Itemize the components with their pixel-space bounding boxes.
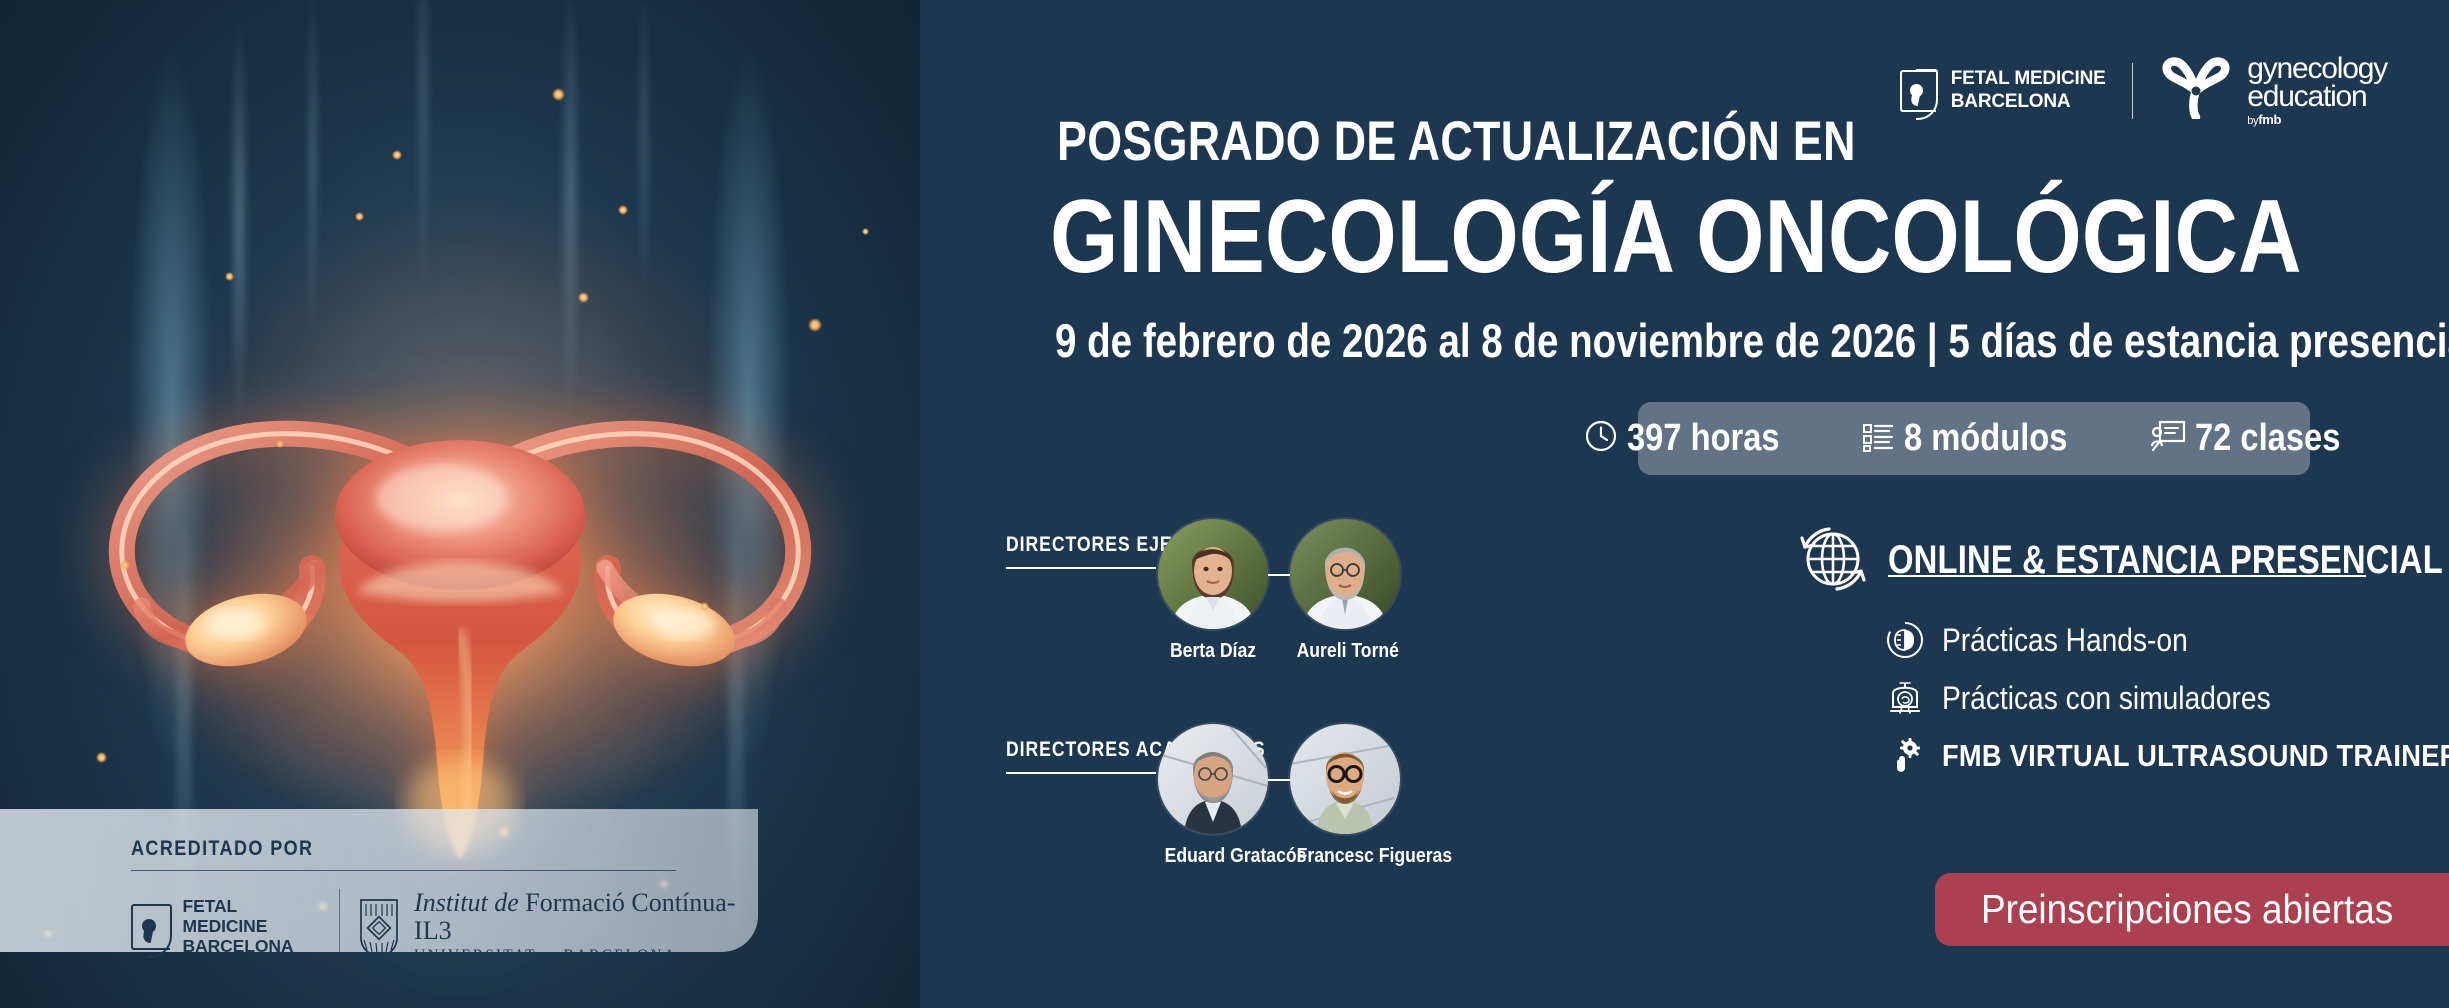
hands-on-icon xyxy=(1884,619,1926,661)
feature-label: Prácticas Hands-on xyxy=(1942,622,2188,659)
fmb-line-1: FETAL MEDICINE xyxy=(183,897,321,937)
gyn-by-word: by xyxy=(2247,115,2258,127)
stat-hours: 397 horas xyxy=(1556,417,1832,460)
features-block: ONLINE & ESTANCIA PRESENCIAL Prácticas H… xyxy=(1796,523,2449,777)
person-name: Francesc Figueras xyxy=(1297,845,1394,868)
course-promo-banner: ACREDITADO POR FETAL MEDICINE BARCELONA xyxy=(0,0,2449,1008)
fmb-logo-line-1: FETAL MEDICINE xyxy=(1951,68,2106,90)
preinscription-cta-button[interactable]: Preinscripciones abiertas xyxy=(1935,873,2449,946)
stat-modules: 8 módulos xyxy=(1833,417,2122,460)
person-name: Aureli Torné xyxy=(1297,640,1394,663)
fetal-medicine-barcelona-logo[interactable]: FETAL MEDICINE BARCELONA xyxy=(1900,68,2106,112)
presentation-classes-icon xyxy=(2150,419,2186,458)
avatar xyxy=(1158,724,1268,834)
gyn-byline: byfmb xyxy=(2247,114,2387,126)
accreditation-panel: ACREDITADO POR FETAL MEDICINE BARCELONA xyxy=(0,809,758,952)
il3-sub-end: BARCELONA xyxy=(563,947,677,964)
person-name: Berta Díaz xyxy=(1165,640,1262,663)
accreditation-divider xyxy=(131,870,676,871)
clock-icon xyxy=(1584,419,1618,458)
gear-hand-icon xyxy=(1884,735,1926,777)
accreditation-label: ACREDITADO POR xyxy=(131,837,313,861)
directors-academic-people: Eduard Gratacós xyxy=(1158,724,1400,868)
header-logos: FETAL MEDICINE BARCELONA gynecology educ… xyxy=(1900,55,2387,126)
fmb-comma-icon xyxy=(1910,84,1923,97)
person-connector xyxy=(1268,574,1290,576)
fmb-line-2: BARCELONA xyxy=(183,937,321,957)
gynecology-ribbon-icon xyxy=(2159,57,2233,124)
person-card[interactable]: Aureli Torné xyxy=(1290,519,1400,663)
stat-classes: 72 clases xyxy=(2122,417,2392,460)
fmb-logo-text: FETAL MEDICINE BARCELONA xyxy=(1951,68,2106,112)
fmb-comma-icon xyxy=(142,919,156,933)
fmb-shield-icon xyxy=(131,904,170,950)
feature-item: FMB VIRTUAL ULTRASOUND TRAINER xyxy=(1884,735,2449,777)
person-connector xyxy=(1268,779,1290,781)
features-header: ONLINE & ESTANCIA PRESENCIAL xyxy=(1796,523,2449,597)
ub-seal-icon xyxy=(358,896,400,958)
modules-list-icon xyxy=(1861,419,1895,458)
fmb-logo-line-2: BARCELONA xyxy=(1951,91,2106,113)
feature-item: Prácticas con simuladores xyxy=(1884,677,2449,719)
globe-icon xyxy=(1796,523,1870,597)
gyn-line-2: education xyxy=(2247,83,2387,111)
person-card[interactable]: Eduard Gratacós xyxy=(1158,724,1268,868)
logo-separator xyxy=(2132,63,2134,119)
course-stats-bar: 397 horas 8 módulos xyxy=(1638,402,2310,475)
features-list: Prácticas Hands-on Prácticas con simulad… xyxy=(1884,619,2449,777)
gyn-line-1: gynecology xyxy=(2247,55,2387,83)
logo-divider xyxy=(339,889,340,965)
uterus-anatomy-graphic xyxy=(50,300,870,860)
il3-institution-name: Institut de Formació Contínua-IL3 xyxy=(414,889,758,944)
simulator-icon xyxy=(1884,677,1926,719)
fmb-shield-icon xyxy=(1900,70,1936,112)
feature-label: FMB VIRTUAL ULTRASOUND TRAINER xyxy=(1942,738,2449,774)
accreditation-logos: FETAL MEDICINE BARCELONA xyxy=(131,889,758,965)
stat-hours-value: 397 horas xyxy=(1627,417,1780,460)
stat-modules-value: 8 módulos xyxy=(1904,417,2067,460)
directors-academic-block: DIRECTORES ACADÉMICOS xyxy=(1006,738,1315,774)
person-card[interactable]: Francesc Figueras xyxy=(1290,724,1400,868)
stat-classes-value: 72 clases xyxy=(2195,417,2340,460)
feature-item: Prácticas Hands-on xyxy=(1884,619,2449,661)
il3-sub-main: UNIVERSITAT xyxy=(414,947,542,964)
il3-name-part1: Institut de xyxy=(414,888,525,917)
directors-academic-rule xyxy=(1006,772,1156,774)
directors-executive-rule xyxy=(1006,567,1156,569)
person-name: Eduard Gratacós xyxy=(1165,845,1262,868)
hero-eyebrow: POSGRADO DE ACTUALIZACIÓN EN xyxy=(1057,108,1856,173)
directors-executive-people: Berta Díaz xyxy=(1158,519,1400,663)
feature-label: Prácticas con simuladores xyxy=(1942,680,2271,717)
avatar xyxy=(1158,519,1268,629)
hero-dates: 9 de febrero de 2026 al 8 de noviembre d… xyxy=(1055,313,2449,368)
person-card[interactable]: Berta Díaz xyxy=(1158,519,1268,663)
uterus-medical-illustration: ACREDITADO POR FETAL MEDICINE BARCELONA xyxy=(0,0,920,1008)
page-title: GINECOLOGÍA ONCOLÓGICA xyxy=(1050,178,2301,297)
directors-executive-block: DIRECTORES EJECUTIVOS xyxy=(1006,533,1305,569)
features-divider xyxy=(1888,575,2366,577)
gynecology-education-logo[interactable]: gynecology education byfmb xyxy=(2159,55,2387,126)
gyn-brand: fmb xyxy=(2258,112,2281,127)
gynecology-logo-text: gynecology education byfmb xyxy=(2247,55,2387,126)
il3-sub-small: DE xyxy=(542,951,563,963)
il3-logo: Institut de Formació Contínua-IL3 UNIVER… xyxy=(358,889,758,964)
avatar xyxy=(1290,519,1400,629)
avatar xyxy=(1290,724,1400,834)
cta-label: Preinscripciones abiertas xyxy=(1981,886,2393,933)
accreditation-fmb-name: FETAL MEDICINE BARCELONA xyxy=(183,897,321,957)
il3-university-line: UNIVERSITAT DE BARCELONA xyxy=(414,947,758,965)
